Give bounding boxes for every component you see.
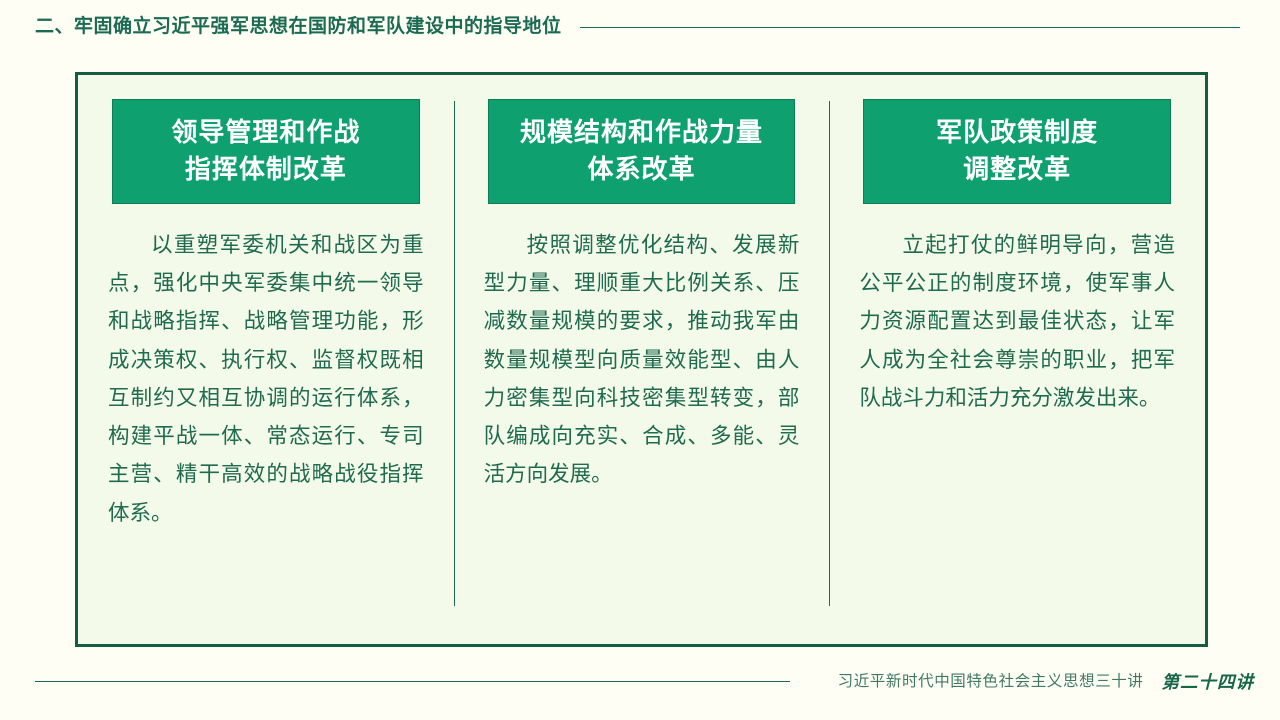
- column-heading-3: 军队政策制度 调整改革: [863, 99, 1171, 204]
- heading-line-2: 体系改革: [495, 151, 789, 188]
- column-heading-1: 领导管理和作战 指挥体制改革: [112, 99, 420, 204]
- page-title: 二、牢固确立习近平强军思想在国防和军队建设中的指导地位: [35, 12, 562, 42]
- footer-series-title: 习近平新时代中国特色社会主义思想三十讲: [838, 668, 1144, 696]
- header-divider-rule: [580, 27, 1240, 28]
- column-body-1: 以重塑军委机关和战区为重点，强化中央军委集中统一领导和战略指挥、战略管理功能，形…: [104, 226, 428, 532]
- page-footer: 习近平新时代中国特色社会主义思想三十讲 第二十四讲: [0, 668, 1280, 696]
- heading-line-2: 指挥体制改革: [119, 151, 413, 188]
- column-body-2: 按照调整优化结构、发展新型力量、理顺重大比例关系、压减数量规模的要求，推动我军由…: [480, 226, 804, 494]
- content-panel: 领导管理和作战 指挥体制改革 以重塑军委机关和战区为重点，强化中央军委集中统一领…: [75, 72, 1208, 647]
- footer-divider-rule: [35, 681, 790, 682]
- heading-line-1: 规模结构和作战力量: [495, 114, 789, 151]
- heading-line-2: 调整改革: [870, 151, 1164, 188]
- column-leadership-command-reform: 领导管理和作战 指挥体制改革 以重塑军委机关和战区为重点，强化中央军委集中统一领…: [78, 75, 454, 644]
- footer-lecture-number: 第二十四讲: [1162, 668, 1255, 696]
- column-military-policy-reform: 军队政策制度 调整改革 立起打仗的鲜明导向，营造公平公正的制度环境，使军事人力资…: [829, 75, 1205, 644]
- column-body-3: 立起打仗的鲜明导向，营造公平公正的制度环境，使军事人力资源配置达到最佳状态，让军…: [855, 226, 1179, 417]
- column-scale-structure-reform: 规模结构和作战力量 体系改革 按照调整优化结构、发展新型力量、理顺重大比例关系、…: [454, 75, 830, 644]
- heading-line-1: 军队政策制度: [870, 114, 1164, 151]
- column-heading-2: 规模结构和作战力量 体系改革: [488, 99, 796, 204]
- heading-line-1: 领导管理和作战: [119, 114, 413, 151]
- page-header: 二、牢固确立习近平强军思想在国防和军队建设中的指导地位: [0, 12, 1280, 42]
